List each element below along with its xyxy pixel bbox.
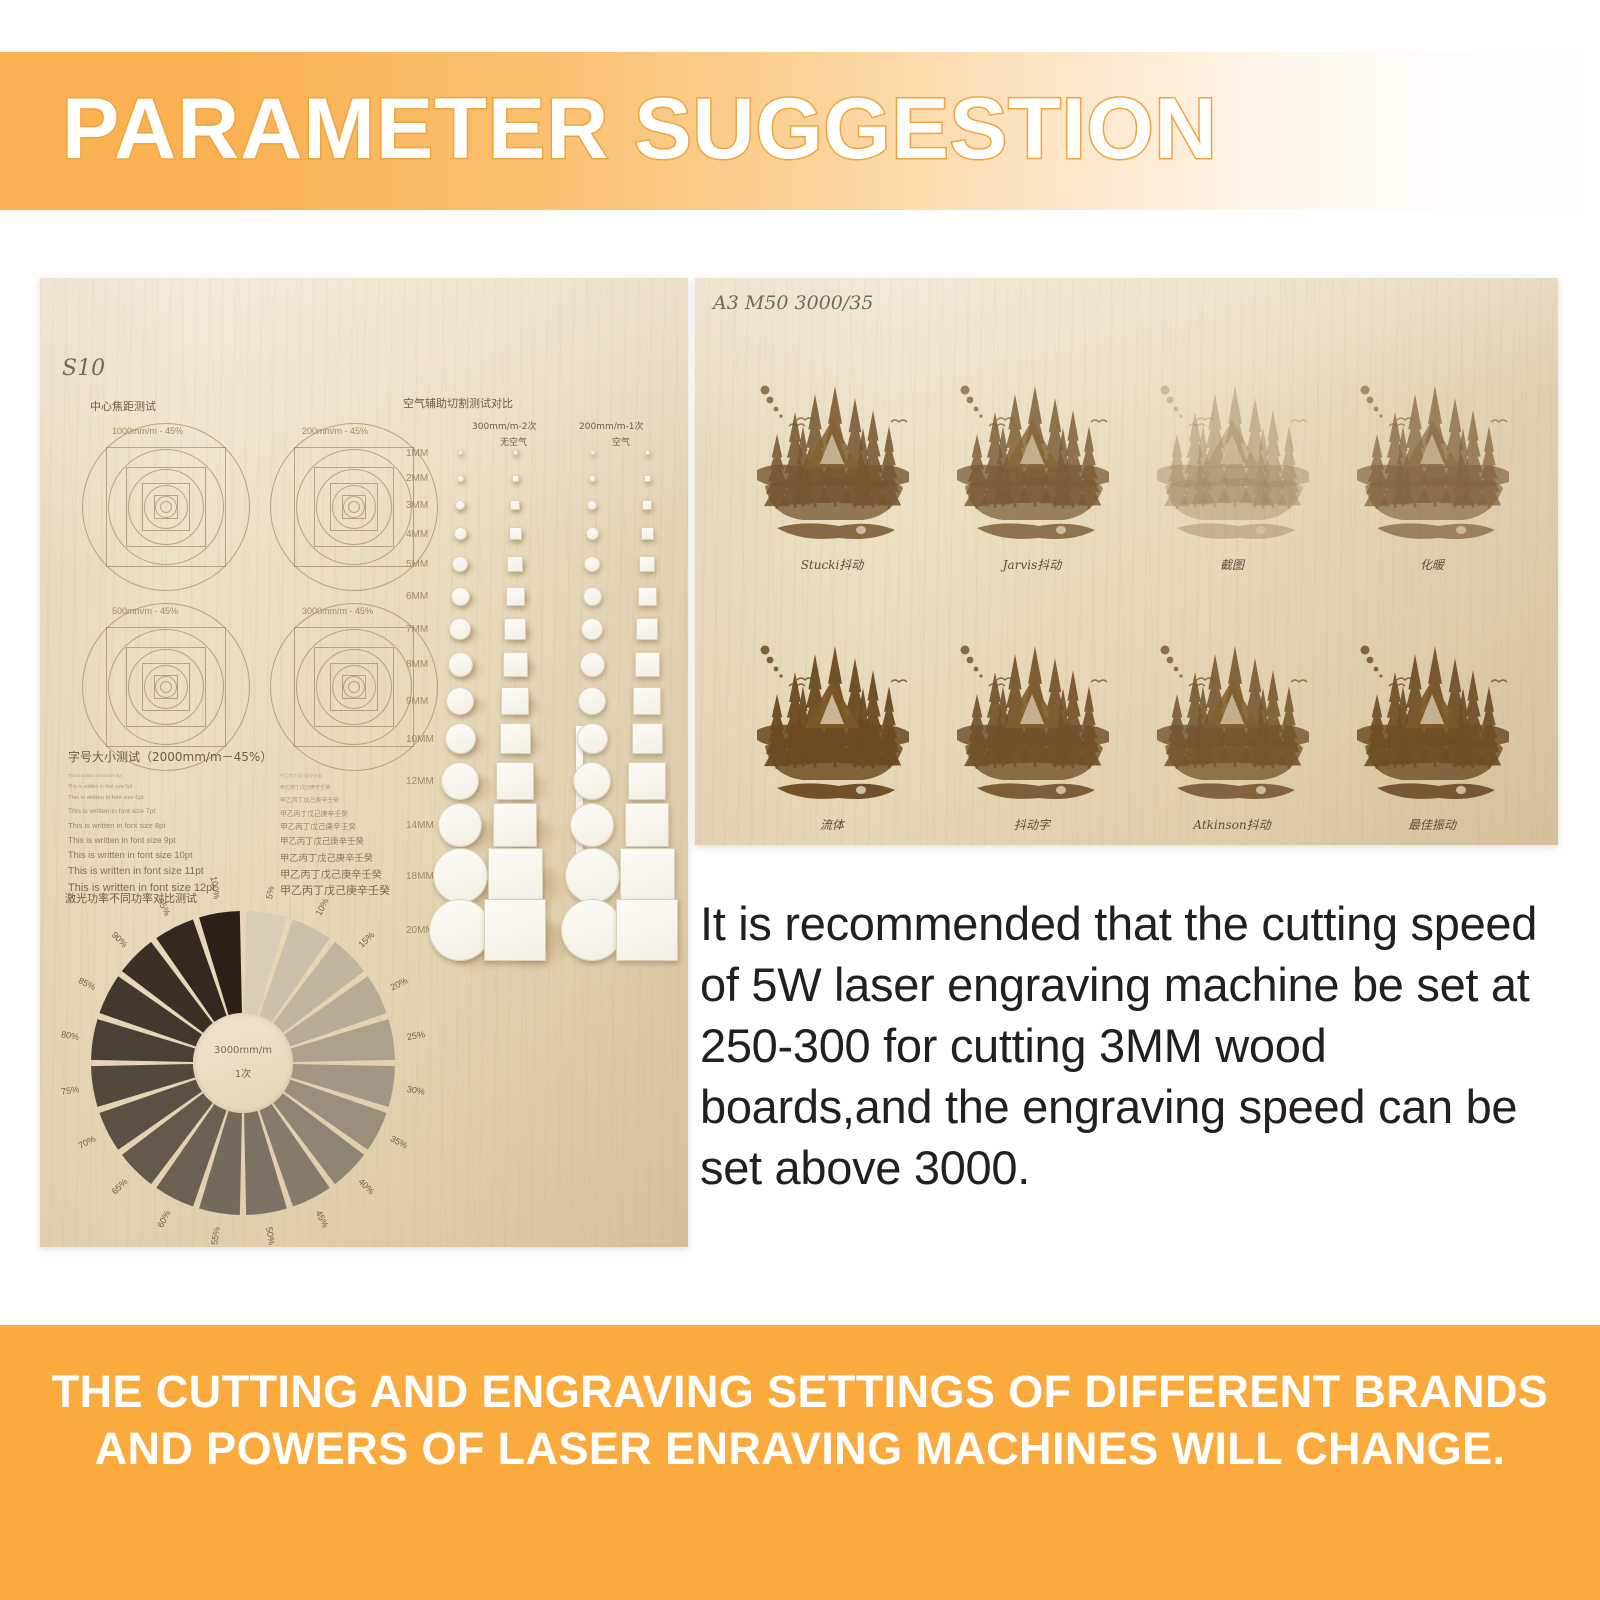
wheel-percent-label: 5% [264,885,276,899]
font-test-line-en: This is written in font size 9pt [68,835,176,845]
cut-circle [589,475,596,482]
air-assist-title: 空气辅助切割测试对比 [403,395,513,411]
wheel-percent-label: 45% [314,1209,331,1230]
handwritten-mark-a3m50: A3 M50 3000/35 [713,292,873,314]
cut-square [507,556,523,572]
cut-circle [438,803,482,847]
cut-circle [441,762,479,800]
wheel-percent-label: 55% [209,1226,222,1245]
engraved-tile: Jarvis抖动 [943,316,1121,582]
cut-square [641,527,654,540]
cut-circle [561,899,623,961]
cut-circle [584,556,600,572]
camp-scene-engraving [743,576,921,814]
wheel-center-passes: 1次 [193,1065,293,1080]
cut-circle [429,899,491,961]
wheel-hub: 3000mm/m 1次 [193,1013,293,1113]
cut-column-1-sub: 无空气 [500,435,527,448]
cut-square [510,500,520,510]
cut-circle [445,723,476,754]
camp-scene-engraving [743,316,921,554]
cut-square [642,500,652,510]
cut-size-label: 7MM [406,624,428,635]
cut-square [484,899,546,961]
cut-square [616,899,678,961]
cut-circle [586,527,599,540]
cut-square [628,762,666,800]
engraved-tile: 截图 [1143,316,1321,582]
font-test-line-cn: 甲乙丙丁戊己庚辛壬癸 [280,821,356,832]
cut-circle [565,848,620,903]
cut-size-label: 12MM [406,776,434,787]
engraved-tile: Stucki抖动 [743,316,921,582]
font-test-line-en: This is written in font size 6pt [68,795,144,801]
cut-column-1-header: 300mm/m-2次 [472,419,537,432]
font-test-line-cn: 甲乙丙丁戊己庚辛壬癸 [280,850,373,864]
wheel-percent-label: 40% [357,1177,377,1197]
focus-test-title: 中心焦距测试 [90,398,156,414]
cut-square [638,587,657,606]
font-test-line-en: This is written in font size 8pt [68,821,166,830]
cut-square [501,687,529,715]
focus-pattern-2-label: 200mm/m - 45% [302,426,368,436]
cut-column-2-header: 200mm/m-1次 [579,419,644,432]
cut-size-label: 3MM [406,500,428,511]
tile-label: Stucki抖动 [743,556,921,573]
tile-label: 化暖 [1343,556,1521,573]
cut-square [496,762,534,800]
handwritten-mark-s10: S10 [62,356,105,381]
cut-circle [573,762,611,800]
wheel-percent-label: 90% [109,929,129,949]
cut-size-label: 8MM [406,659,428,670]
cut-size-label: 4MM [406,529,428,540]
cut-square [625,803,669,847]
wheel-percent-label: 10% [314,897,331,918]
tile-label: Atkinson抖动 [1143,816,1321,833]
focus-pattern-4-label: 3000mm/m - 45% [302,606,373,616]
wheel-percent-label: 85% [77,975,98,992]
cut-circle [448,652,473,677]
cut-square [633,687,661,715]
cut-square [645,450,650,455]
wheel-percent-label: 65% [109,1177,129,1197]
engraved-tile: Atkinson抖动 [1143,576,1321,842]
tile-label: 抖动字 [943,816,1121,833]
cut-square [635,652,660,677]
cut-square [500,723,531,754]
camp-scene-engraving [943,576,1121,814]
wheel-percent-label: 30% [406,1084,425,1097]
cut-square [512,475,519,482]
font-test-line-cn: 甲乙丙丁戊己庚辛壬癸 [280,795,339,804]
cut-square [509,527,522,540]
camp-scene-engraving [1143,316,1321,554]
camp-scene-engraving [943,316,1121,554]
wheel-percent-label: 20% [389,975,410,992]
wheel-percent-label: 25% [406,1029,425,1042]
font-size-test-title: 字号大小测试（2000mm/m－45%） [68,748,272,765]
footer-text: THE CUTTING AND ENGRAVING SETTINGS OF DI… [0,1363,1600,1477]
cut-circle [454,527,467,540]
camp-scene-engraving [1343,316,1521,554]
left-test-board: S10 中心焦距测试 1000mm/m - 45% 200mm/m - 45% [40,278,688,1247]
cut-square [503,652,528,677]
font-test-line-cn: 甲乙丙丁戊己庚辛壬癸 [280,835,364,847]
camp-scene-engraving [1343,576,1521,814]
cut-square [632,723,663,754]
cut-circle [570,803,614,847]
cut-size-label: 10MM [406,734,434,745]
cut-size-label: 5MM [406,559,428,570]
cut-column-2-sub: 空气 [612,435,630,448]
wheel-percent-label: 35% [389,1134,410,1151]
cut-circle [590,450,595,455]
engraved-tile: 化暖 [1343,316,1521,582]
power-percentage-wheel: 3000mm/m 1次 5%10%15%20%25%30%35%40%45%50… [88,908,408,1226]
focus-pattern-3-label: 500mm/m - 45% [112,606,178,616]
cut-size-label: 18MM [406,871,434,882]
wheel-percent-label: 60% [155,1209,172,1230]
engraved-tile: 流体 [743,576,921,842]
font-test-line-en: This is written in font size 5pt [68,784,132,790]
font-test-line-cn: 甲乙丙丁戊己庚辛壬癸 [280,773,322,779]
cut-size-label: 9MM [406,696,428,707]
font-test-line-cn: 甲乙丙丁戊己庚辛壬癸 [280,882,390,898]
font-test-line-cn: 甲乙丙丁戊己庚辛壬癸 [280,866,382,881]
recommendation-text: It is recommended that the cutting speed… [700,893,1560,1198]
cut-circle [587,500,597,510]
cut-size-label: 1MM [406,448,428,459]
wheel-percent-label: 70% [77,1134,98,1151]
engraved-tile: 最佳振动 [1343,576,1521,842]
tile-label: 最佳振动 [1343,816,1521,833]
cut-circle [577,723,608,754]
tile-label: 截图 [1143,556,1321,573]
wheel-percent-label: 15% [357,929,377,949]
cut-size-label: 6MM [406,591,428,602]
focus-pattern-1-label: 1000mm/m - 45% [112,426,183,436]
power-gradient-title: 激光功率不同功率对比测试 [65,890,197,906]
font-test-line-en: This is written in font size 4pt [68,773,122,778]
cut-circle [451,587,470,606]
cut-square [639,556,655,572]
cut-circle [457,475,464,482]
font-test-line-en: This is written in font size 10pt [68,850,193,860]
cut-circle [433,848,488,903]
cut-circle [583,587,602,606]
wheel-percent-label: 100% [208,876,221,900]
cut-square [636,618,658,640]
cut-size-label: 2MM [406,473,428,484]
focus-pattern-1 [82,423,252,593]
font-test-line-cn: 甲乙丙丁戊己庚辛壬癸 [280,784,330,791]
cut-square [488,848,543,903]
engraved-tile: 抖动字 [943,576,1121,842]
font-test-line-cn: 甲乙丙丁戊己庚辛壬癸 [280,808,348,818]
cut-circle [458,450,463,455]
tile-label: 流体 [743,816,921,833]
wheel-center-speed: 3000mm/m [193,1045,293,1056]
wheel-percent-label: 50% [264,1226,277,1245]
cut-circle [581,618,603,640]
cut-circle [580,652,605,677]
cut-square [513,450,518,455]
tile-label: Jarvis抖动 [943,556,1121,573]
cut-square [644,475,651,482]
cut-square [493,803,537,847]
cut-square [504,618,526,640]
cut-size-label: 14MM [406,820,434,831]
cut-square [620,848,675,903]
cut-circle [578,687,606,715]
wheel-percent-label: 75% [60,1084,79,1097]
wheel-percent-label: 80% [60,1029,79,1042]
cut-circle [446,687,474,715]
font-test-line-en: This is written in font size 11pt [68,866,204,877]
page-title: PARAMETER SUGGESTION [62,80,1218,179]
cut-square [506,587,525,606]
font-test-line-en: This is written in font size 7pt [68,808,155,815]
camp-scene-engraving [1143,576,1321,814]
right-dither-board: A3 M50 3000/35 Stucki抖动Jarvis抖动截图化暖流体抖动字… [695,278,1558,845]
